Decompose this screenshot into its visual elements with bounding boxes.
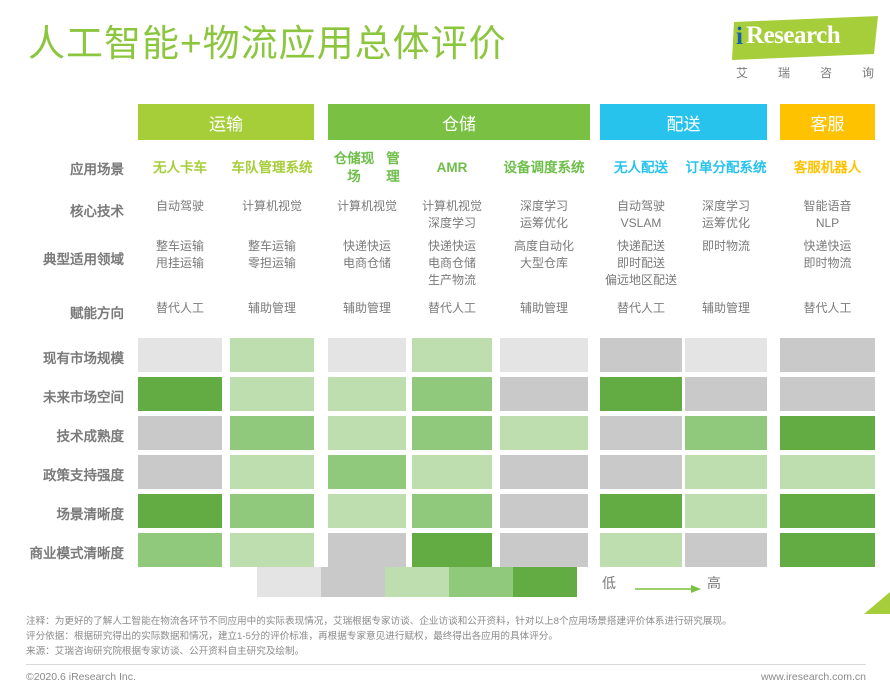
heatmap-cell: [412, 377, 492, 411]
color-scale-legend: 低高: [0, 565, 890, 605]
heatmap-row-label-0: 现有市场规模: [0, 347, 124, 367]
text-line: 即时物流: [685, 238, 767, 255]
cell-direction-1: 辅助管理: [230, 300, 314, 317]
heatmap-cell: [138, 494, 222, 528]
text-line: 自动驾驶: [138, 198, 222, 215]
text-line: 快递快运: [780, 238, 875, 255]
logo-sub-char-2: 瑞: [778, 64, 790, 81]
heatmap-row-label-5: 商业模式清晰度: [0, 542, 124, 562]
cell-fields-3: 快递快运电商仓储生产物流: [412, 238, 492, 289]
heatmap-cell: [780, 533, 875, 567]
heatmap-cell: [685, 455, 767, 489]
heatmap-row-label-1: 未来市场空间: [0, 386, 124, 406]
heatmap-cell: [685, 416, 767, 450]
cell-fields-5: 快递配送即时配送偏远地区配送: [600, 238, 682, 289]
text-line: 大型仓库: [500, 255, 588, 272]
cell-fields-1: 整车运输零担运输: [230, 238, 314, 272]
heatmap-cell: [500, 416, 588, 450]
footnote-line-1: 注释：为更好的了解人工智能在物流各环节不同应用中的实际表现情况，艾瑞根据专家访谈…: [26, 614, 866, 629]
text-line: 计算机视觉: [230, 198, 314, 215]
cell-direction-7: 替代人工: [780, 300, 875, 317]
heatmap-cell: [138, 377, 222, 411]
heatmap-cell: [685, 533, 767, 567]
scenario-header-5[interactable]: 无人配送: [600, 148, 682, 188]
scenario-header-3[interactable]: AMR: [412, 148, 492, 188]
cell-direction-2: 辅助管理: [328, 300, 406, 317]
text-line: 无人卡车: [153, 159, 207, 177]
logo-i-letter: i: [736, 23, 743, 51]
text-line: 辅助管理: [328, 300, 406, 317]
website-url: www.iresearch.com.cn: [761, 671, 866, 683]
heatmap-cell: [600, 338, 682, 372]
legend-swatch-2: [321, 567, 385, 597]
heatmap-cell: [230, 416, 314, 450]
text-line: 替代人工: [780, 300, 875, 317]
group-tab-3[interactable]: 客服: [780, 104, 875, 140]
text-line: 零担运输: [230, 255, 314, 272]
heatmap-cell: [138, 338, 222, 372]
group-tab-2[interactable]: 配送: [600, 104, 767, 140]
text-line: 辅助管理: [230, 300, 314, 317]
text-line: 系统: [740, 159, 767, 177]
heatmap-cell: [685, 377, 767, 411]
heatmap-row-label-2: 技术成熟度: [0, 425, 124, 445]
text-line: 深度学习: [500, 198, 588, 215]
heatmap-cell: [412, 416, 492, 450]
text-line: 辅助管理: [500, 300, 588, 317]
row-label-2: 典型适用领域: [0, 248, 124, 268]
text-line: 计算机视觉: [412, 198, 492, 215]
heatmap-cell: [412, 533, 492, 567]
logo-wordmark: Research: [746, 22, 840, 50]
scenario-header-2[interactable]: 仓储现场管理: [328, 148, 406, 188]
logo-sub-char-4: 询: [862, 64, 874, 81]
corner-accent: [864, 592, 890, 614]
text-line: 机器人: [821, 159, 862, 177]
heatmap-cell: [230, 533, 314, 567]
text-line: 设备调度: [504, 159, 558, 177]
legend-swatch-1: [257, 567, 321, 597]
heatmap-cell: [500, 533, 588, 567]
text-line: 电商仓储: [412, 255, 492, 272]
text-line: 深度学习: [412, 215, 492, 232]
text-line: 订单分配: [686, 159, 740, 177]
heatmap-cell: [412, 494, 492, 528]
text-line: 管理: [380, 150, 406, 186]
heatmap-cell: [328, 338, 406, 372]
heatmap-cell: [328, 455, 406, 489]
cell-tech-3: 计算机视觉深度学习: [412, 198, 492, 232]
evaluation-matrix: 运输仓储配送客服应用场景无人卡车车队管理系统仓储现场管理AMR设备调度系统无人配…: [0, 100, 890, 565]
text-line: 替代人工: [138, 300, 222, 317]
heatmap-cell: [600, 377, 682, 411]
heatmap-cell: [780, 377, 875, 411]
text-line: 电商仓储: [328, 255, 406, 272]
logo-mark: i Research: [732, 16, 878, 62]
group-tab-label: 运输: [209, 110, 243, 135]
heatmap-cell: [500, 338, 588, 372]
scenario-header-6[interactable]: 订单分配系统: [685, 148, 767, 188]
heatmap-cell: [600, 533, 682, 567]
group-tab-0[interactable]: 运输: [138, 104, 314, 140]
heatmap-cell: [412, 455, 492, 489]
group-tab-label: 配送: [667, 110, 701, 135]
footnote-line-2: 评分依据：根据研究得出的实际数据和情况，建立1-5分的评价标准，再根据专家意见进…: [26, 629, 866, 644]
cell-fields-2: 快递快运电商仓储: [328, 238, 406, 272]
text-line: 替代人工: [600, 300, 682, 317]
heatmap-cell: [328, 377, 406, 411]
legend-swatch-4: [449, 567, 513, 597]
row-label-3: 赋能方向: [0, 302, 124, 322]
cell-tech-1: 计算机视觉: [230, 198, 314, 215]
heatmap-cell: [328, 533, 406, 567]
heatmap-cell: [685, 338, 767, 372]
group-tab-label: 客服: [811, 110, 845, 135]
heatmap-cell: [685, 494, 767, 528]
row-label-1: 核心技术: [0, 200, 124, 220]
legend-arrow-icon: [635, 581, 701, 591]
heatmap-cell: [600, 455, 682, 489]
footnotes: 注释：为更好的了解人工智能在物流各环节不同应用中的实际表现情况，艾瑞根据专家访谈…: [26, 614, 866, 659]
heatmap-cell: [500, 494, 588, 528]
heatmap-cell: [230, 494, 314, 528]
logo-sub-char-3: 咨: [820, 64, 832, 81]
heatmap-cell: [328, 494, 406, 528]
cell-tech-0: 自动驾驶: [138, 198, 222, 215]
heatmap-cell: [230, 338, 314, 372]
page-header: 人工智能+物流应用总体评价 i Research 艾 瑞 咨 询: [0, 0, 890, 96]
text-line: 仓储现场: [328, 150, 380, 186]
text-line: 计算机视觉: [328, 198, 406, 215]
heatmap-cell: [138, 533, 222, 567]
text-line: 车队管理: [232, 159, 286, 177]
legend-swatch-3: [385, 567, 449, 597]
heatmap-cell: [500, 455, 588, 489]
logo-sub-char-1: 艾: [736, 64, 748, 81]
cell-fields-4: 高度自动化大型仓库: [500, 238, 588, 272]
text-line: 客服: [794, 159, 821, 177]
text-line: 即时物流: [780, 255, 875, 272]
heatmap-cell: [138, 455, 222, 489]
text-line: 运筹优化: [685, 215, 767, 232]
heatmap-cell: [600, 494, 682, 528]
heatmap-cell: [780, 338, 875, 372]
text-line: 快递快运: [412, 238, 492, 255]
group-tab-label: 仓储: [442, 110, 476, 135]
cell-direction-3: 替代人工: [412, 300, 492, 317]
scenario-header-4[interactable]: 设备调度系统: [500, 148, 588, 188]
cell-tech-5: 自动驾驶VSLAM: [600, 198, 682, 232]
row-label-0: 应用场景: [0, 158, 124, 178]
text-line: 替代人工: [412, 300, 492, 317]
heatmap-cell: [780, 455, 875, 489]
cell-fields-0: 整车运输甩挂运输: [138, 238, 222, 272]
group-tab-1[interactable]: 仓储: [328, 104, 590, 140]
text-line: 系统: [286, 159, 313, 177]
cell-tech-4: 深度学习运筹优化: [500, 198, 588, 232]
text-line: 辅助管理: [685, 300, 767, 317]
iresearch-logo: i Research 艾 瑞 咨 询: [732, 16, 878, 86]
cell-fields-6: 即时物流: [685, 238, 767, 255]
cell-direction-5: 替代人工: [600, 300, 682, 317]
heatmap-row-label-3: 政策支持强度: [0, 464, 124, 484]
cell-fields-7: 快递快运即时物流: [780, 238, 875, 272]
cell-direction-0: 替代人工: [138, 300, 222, 317]
footnote-line-3: 来源：艾瑞咨询研究院根据专家访谈、公开资料自主研究及绘制。: [26, 644, 866, 659]
copyright-text: ©2020.6 iResearch Inc.: [26, 671, 136, 683]
cell-tech-7: 智能语音NLP: [780, 198, 875, 232]
heatmap-cell: [780, 494, 875, 528]
text-line: 快递快运: [328, 238, 406, 255]
page-title: 人工智能+物流应用总体评价: [28, 22, 507, 66]
heatmap-cell: [500, 377, 588, 411]
footer-divider: [26, 664, 866, 665]
heatmap-cell: [138, 416, 222, 450]
heatmap-cell: [230, 377, 314, 411]
cell-direction-4: 辅助管理: [500, 300, 588, 317]
heatmap-cell: [600, 416, 682, 450]
text-line: 运筹优化: [500, 215, 588, 232]
text-line: 整车运输: [138, 238, 222, 255]
text-line: VSLAM: [600, 215, 682, 232]
text-line: 高度自动化: [500, 238, 588, 255]
cell-direction-6: 辅助管理: [685, 300, 767, 317]
text-line: AMR: [437, 159, 468, 177]
scenario-header-7[interactable]: 客服机器人: [780, 148, 875, 188]
legend-swatch-5: [513, 567, 577, 597]
scenario-header-0[interactable]: 无人卡车: [138, 148, 222, 188]
heatmap-cell: [780, 416, 875, 450]
text-line: 无人配送: [614, 159, 668, 177]
heatmap-row-label-4: 场景清晰度: [0, 503, 124, 523]
logo-subtitle: 艾 瑞 咨 询: [736, 64, 874, 81]
text-line: 快递配送: [600, 238, 682, 255]
text-line: 甩挂运输: [138, 255, 222, 272]
text-line: 智能语音: [780, 198, 875, 215]
heatmap-cell: [328, 416, 406, 450]
heatmap-cell: [412, 338, 492, 372]
text-line: 即时配送: [600, 255, 682, 272]
legend-label-high: 高: [707, 573, 721, 593]
text-line: 生产物流: [412, 272, 492, 289]
text-line: 深度学习: [685, 198, 767, 215]
text-line: 整车运输: [230, 238, 314, 255]
legend-label-low: 低: [602, 573, 616, 593]
corner-triangle-icon: [864, 592, 890, 614]
cell-tech-2: 计算机视觉: [328, 198, 406, 215]
text-line: 偏远地区配送: [600, 272, 682, 289]
text-line: 系统: [558, 159, 585, 177]
text-line: NLP: [780, 215, 875, 232]
scenario-header-1[interactable]: 车队管理系统: [230, 148, 314, 188]
text-line: 自动驾驶: [600, 198, 682, 215]
heatmap-cell: [230, 455, 314, 489]
cell-tech-6: 深度学习运筹优化: [685, 198, 767, 232]
